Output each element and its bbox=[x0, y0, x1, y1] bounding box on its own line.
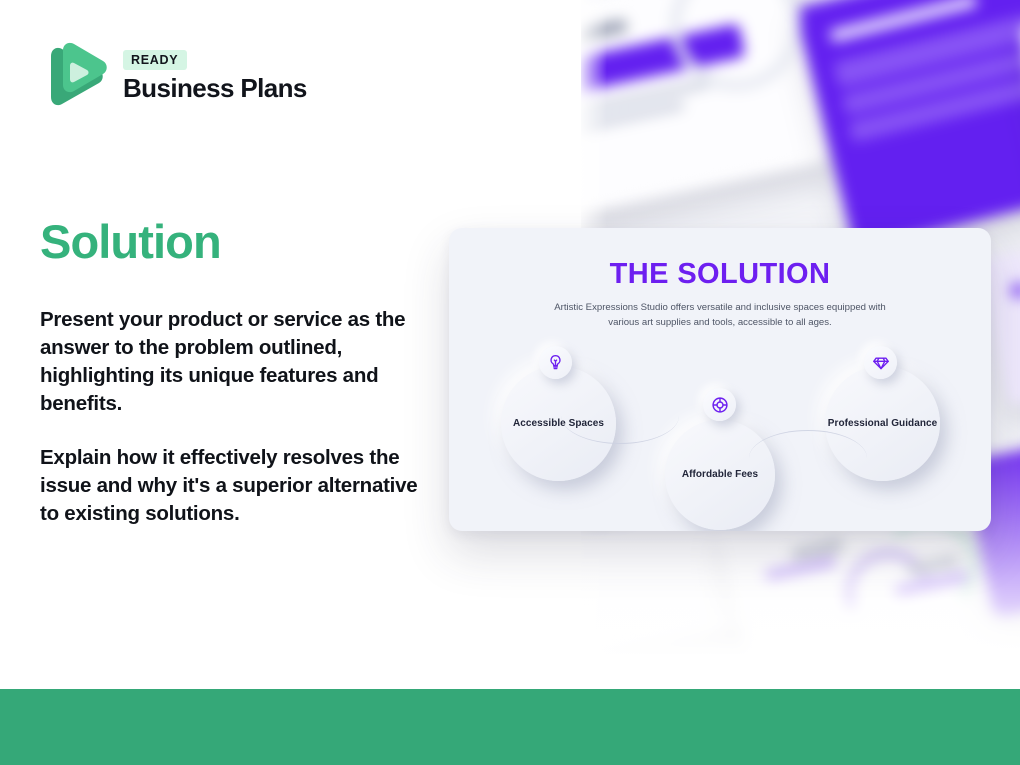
page-title: Solution bbox=[40, 214, 221, 269]
slide-preview-card[interactable]: THE SOLUTION Artistic Expressions Studio… bbox=[449, 228, 991, 531]
slide-canvas: THE SOLUTION Artistic Expressions Studio… bbox=[0, 0, 1020, 765]
body-paragraph-2: Explain how it effectively resolves the … bbox=[40, 444, 430, 528]
paragraph-text: Explain how it effectively resolves the … bbox=[40, 444, 430, 528]
node-affordable-fees[interactable]: Affordable Fees bbox=[665, 420, 775, 530]
brand-name: Business Plans bbox=[123, 73, 307, 104]
diamond-icon bbox=[864, 346, 897, 379]
ready-badge: READY bbox=[123, 50, 187, 70]
brand-logo-lockup[interactable]: READY Business Plans bbox=[41, 40, 307, 114]
node-label: Professional Guidance bbox=[828, 417, 937, 430]
body-paragraph-1: Present your product or service as the a… bbox=[40, 306, 430, 418]
preview-subtitle: Artistic Expressions Studio offers versa… bbox=[549, 301, 891, 331]
lifebuoy-icon bbox=[703, 388, 736, 421]
paragraph-text: Present your product or service as the a… bbox=[40, 306, 430, 418]
mockup-slide bbox=[795, 0, 1020, 251]
lightbulb-icon bbox=[539, 346, 572, 379]
footer-bar bbox=[0, 689, 1020, 765]
connector-line bbox=[561, 388, 679, 444]
preview-title: THE SOLUTION bbox=[449, 258, 991, 291]
node-label: Affordable Fees bbox=[682, 468, 758, 481]
connector-line bbox=[749, 430, 867, 486]
play-triangles-logo bbox=[41, 40, 109, 114]
brand-text-block: READY Business Plans bbox=[123, 50, 307, 104]
